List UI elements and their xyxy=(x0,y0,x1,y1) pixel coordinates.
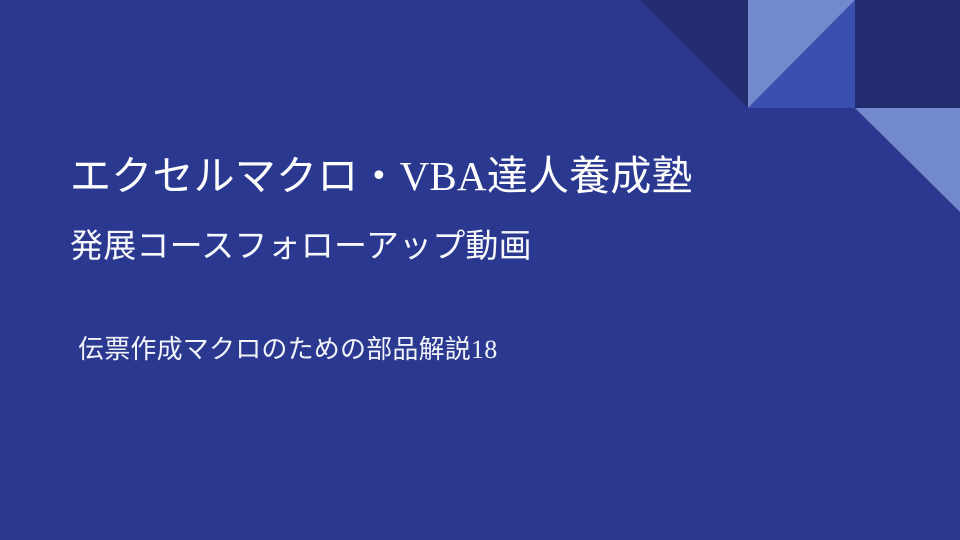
presentation-slide: エクセルマクロ・VBA達人養成塾 発展コースフォローアップ動画 伝票作成マクロの… xyxy=(0,0,960,540)
slide-text-block: エクセルマクロ・VBA達人養成塾 発展コースフォローアップ動画 伝票作成マクロの… xyxy=(0,0,960,540)
slide-title: エクセルマクロ・VBA達人養成塾 xyxy=(70,152,693,200)
slide-caption: 伝票作成マクロのための部品解説18 xyxy=(78,334,497,365)
slide-subtitle: 発展コースフォローアップ動画 xyxy=(70,228,532,268)
